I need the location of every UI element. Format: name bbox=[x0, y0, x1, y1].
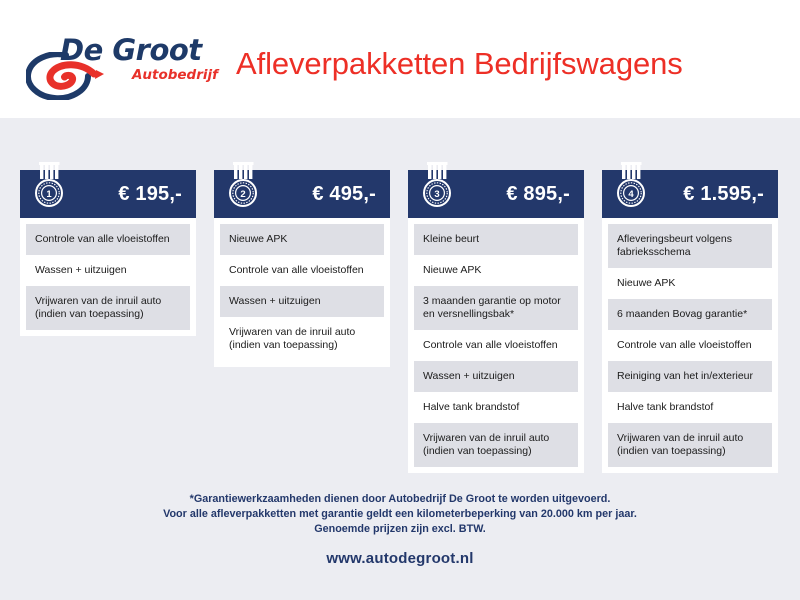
package-feature-item: Wassen + uitzuigen bbox=[26, 255, 190, 286]
package-price: € 895,- bbox=[506, 183, 570, 206]
footer: *Garantiewerkzaamheden dienen door Autob… bbox=[0, 492, 800, 567]
package-feature-list: Nieuwe APKControle van alle vloeistoffen… bbox=[214, 218, 390, 367]
brand-name-primary: De Groot bbox=[60, 34, 220, 66]
package-feature-item: Kleine beurt bbox=[414, 224, 578, 255]
svg-text:1: 1 bbox=[46, 189, 52, 200]
package-feature-list: Kleine beurtNieuwe APK3 maanden garantie… bbox=[408, 218, 584, 473]
package-card-header: 4€ 1.595,- bbox=[602, 170, 778, 218]
package-price: € 495,- bbox=[312, 183, 376, 206]
package-feature-item: 6 maanden Bovag garantie* bbox=[608, 299, 772, 330]
package-card-header: 1€ 195,- bbox=[20, 170, 196, 218]
brand-logo[interactable]: De Groot Autobedrijf bbox=[26, 34, 216, 102]
medal-icon: 3 bbox=[420, 162, 454, 210]
package-feature-item: Nieuwe APK bbox=[608, 268, 772, 299]
svg-text:4: 4 bbox=[628, 189, 634, 200]
package-price: € 195,- bbox=[118, 183, 182, 206]
brand-name-secondary: Autobedrijf bbox=[60, 67, 220, 83]
package-card[interactable]: 4€ 1.595,-Afleveringsbeurt volgensfabrie… bbox=[602, 162, 778, 473]
promo-page: De Groot Autobedrijf Afleverpakketten Be… bbox=[0, 0, 800, 600]
package-card-list: 1€ 195,-Controle van alle vloeistoffenWa… bbox=[20, 162, 780, 473]
package-card[interactable]: 2€ 495,-Nieuwe APKControle van alle vloe… bbox=[214, 162, 390, 367]
footer-line-3: Genoemde prijzen zijn excl. BTW. bbox=[0, 522, 800, 537]
package-feature-item: Wassen + uitzuigen bbox=[414, 361, 578, 392]
package-feature-item: Reiniging van het in/exterieur bbox=[608, 361, 772, 392]
footer-line-2: Voor alle afleverpakketten met garantie … bbox=[0, 507, 800, 522]
package-feature-item: Controle van alle vloeistoffen bbox=[26, 224, 190, 255]
package-feature-item: Halve tank brandstof bbox=[414, 392, 578, 423]
package-feature-item: Nieuwe APK bbox=[414, 255, 578, 286]
package-feature-item: Controle van alle vloeistoffen bbox=[608, 330, 772, 361]
package-price: € 1.595,- bbox=[683, 183, 764, 206]
package-feature-item: Controle van alle vloeistoffen bbox=[414, 330, 578, 361]
package-feature-item: Halve tank brandstof bbox=[608, 392, 772, 423]
website-url-link[interactable]: www.autodegroot.nl bbox=[0, 550, 800, 567]
package-feature-item: Vrijwaren van de inruil auto(indien van … bbox=[220, 317, 384, 361]
package-card[interactable]: 1€ 195,-Controle van alle vloeistoffenWa… bbox=[20, 162, 196, 336]
footer-line-1: *Garantiewerkzaamheden dienen door Autob… bbox=[0, 492, 800, 507]
medal-icon: 1 bbox=[32, 162, 66, 210]
package-feature-item: Controle van alle vloeistoffen bbox=[220, 255, 384, 286]
package-feature-item: Wassen + uitzuigen bbox=[220, 286, 384, 317]
package-feature-item: Vrijwaren van de inruil auto(indien van … bbox=[26, 286, 190, 330]
page-title: Afleverpakketten Bedrijfswagens bbox=[236, 46, 683, 82]
package-feature-item: Vrijwaren van de inruil auto(indien van … bbox=[414, 423, 578, 467]
package-card[interactable]: 3€ 895,-Kleine beurtNieuwe APK3 maanden … bbox=[408, 162, 584, 473]
package-feature-item: Nieuwe APK bbox=[220, 224, 384, 255]
package-feature-item: Vrijwaren van de inruil auto(indien van … bbox=[608, 423, 772, 467]
medal-icon: 4 bbox=[614, 162, 648, 210]
svg-text:3: 3 bbox=[434, 189, 439, 200]
package-feature-item: 3 maanden garantie op motoren versnellin… bbox=[414, 286, 578, 330]
brand-wordmark: De Groot Autobedrijf bbox=[60, 34, 220, 83]
package-feature-item: Afleveringsbeurt volgensfabrieksschema bbox=[608, 224, 772, 268]
package-feature-list: Controle van alle vloeistoffenWassen + u… bbox=[20, 218, 196, 336]
package-feature-list: Afleveringsbeurt volgensfabrieksschemaNi… bbox=[602, 218, 778, 473]
package-card-header: 2€ 495,- bbox=[214, 170, 390, 218]
medal-icon: 2 bbox=[226, 162, 260, 210]
page-header-band: De Groot Autobedrijf Afleverpakketten Be… bbox=[0, 0, 800, 118]
svg-text:2: 2 bbox=[240, 189, 245, 200]
package-card-header: 3€ 895,- bbox=[408, 170, 584, 218]
